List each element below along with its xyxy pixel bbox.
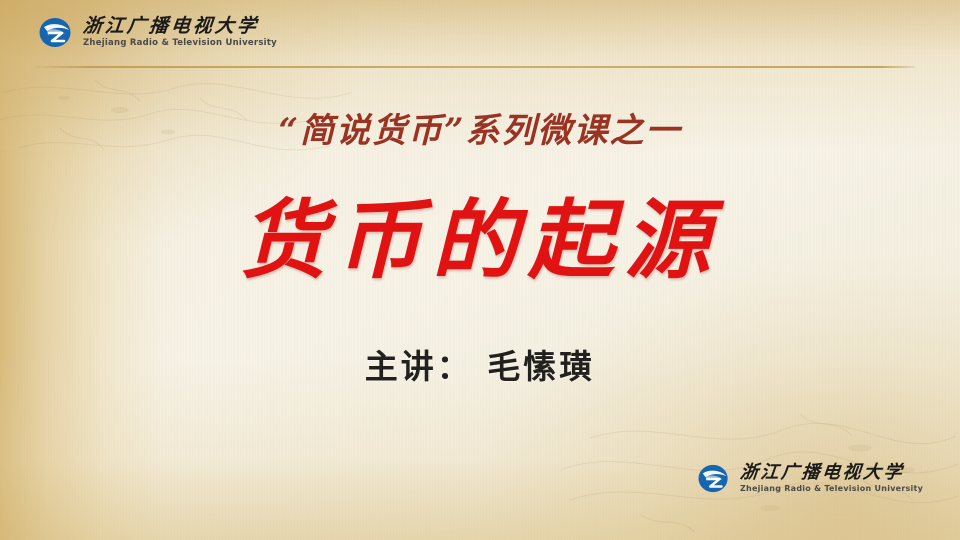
footer-logo-text: 浙江广播电视大学 Zhejiang Radio & Television Uni… xyxy=(740,464,923,493)
zhejiang-rtvu-logo-icon xyxy=(38,16,74,49)
header-logo-text: 浙江广播电视大学 Zhejiang Radio & Television Uni… xyxy=(83,17,277,48)
footer-logo: 浙江广播电视大学 Zhejiang Radio & Television Uni… xyxy=(697,463,923,494)
header-logo: 浙江广播电视大学 Zhejiang Radio & Television Uni… xyxy=(38,16,277,49)
footer-logo-name-cn: 浙江广播电视大学 xyxy=(739,464,924,482)
header-logo-name-en: Zhejiang Radio & Television University xyxy=(83,39,277,48)
zhejiang-rtvu-logo-icon-footer xyxy=(697,463,731,494)
series-subtitle: “简说货币”系列微课之一 xyxy=(0,103,960,152)
header-divider-line xyxy=(36,66,915,68)
title-slide: 浙江广播电视大学 Zhejiang Radio & Television Uni… xyxy=(0,0,960,540)
header-logo-name-cn: 浙江广播电视大学 xyxy=(82,17,278,36)
page-title: 货币的起源 xyxy=(0,196,960,286)
presenter-line: 主讲： 毛愫璜 xyxy=(0,340,960,388)
footer-logo-name-en: Zhejiang Radio & Television University xyxy=(740,485,923,493)
